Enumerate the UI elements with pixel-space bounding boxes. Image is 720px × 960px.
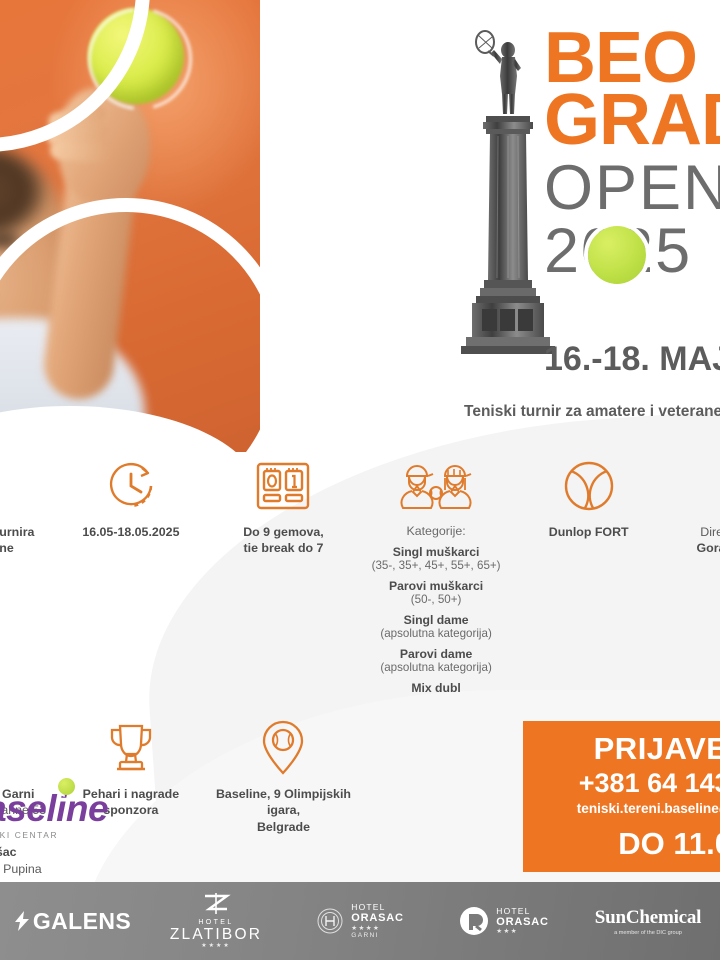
players-icon	[364, 455, 509, 517]
info-line: tie break do 7	[211, 540, 356, 556]
info-line: TK Baseline	[0, 540, 51, 556]
tournament-draw-icon	[669, 455, 720, 517]
brand-wordmark: BEO GRAD OPEN 2025	[544, 28, 720, 283]
brand-line-grad: GRAD	[544, 90, 720, 152]
player-finger	[49, 140, 108, 163]
info-line: Goran Ivanović	[669, 540, 720, 556]
tennis-ball-zero-icon	[588, 226, 646, 284]
info-cell-categories: Kategorije: Singl muškarci (35-, 35+, 45…	[360, 455, 513, 695]
sponsor-sunchemical[interactable]: SunChemical a member of the DIC group	[576, 907, 720, 936]
info-line: Dunlop FORT	[516, 524, 661, 540]
orasac-kicker: HOTEL	[351, 903, 403, 912]
tennis-ball-icon	[516, 455, 661, 517]
info-line: Organizator turnira	[0, 524, 51, 540]
category-name: Mix dubl	[364, 681, 509, 695]
galens-mark-icon	[13, 910, 31, 932]
orasac-circle-icon	[459, 906, 489, 936]
info-cell-organizer: Organizator turnira TK Baseline	[0, 455, 55, 695]
baseline-ball-icon	[58, 778, 75, 795]
registration-banner[interactable]: PRIJAVE NA +381 64 1435 227 teniski.tere…	[523, 721, 720, 872]
info-cell-director: Direktor turnira Goran Ivanović	[665, 455, 720, 695]
sponsor-orasac[interactable]: HOTEL ORASAC ★★★	[432, 906, 576, 936]
orasac-crest-icon	[316, 907, 344, 935]
info-cell-ball: Dunlop FORT	[512, 455, 665, 695]
zlatibor-name: ZLATIBOR	[170, 927, 262, 943]
zlatibor-logo: HOTEL ZLATIBOR ★★★★	[170, 893, 262, 950]
baseline-wordmark: baseline	[0, 790, 144, 827]
brand-year-text: 2025	[544, 220, 720, 283]
categories-heading: Kategorije:	[364, 524, 509, 538]
clock-icon	[59, 455, 204, 517]
baseline-club-logo: baseline TENISKI CENTAR	[0, 790, 144, 840]
sunchemical-wordmark: SunChemical	[595, 907, 702, 929]
category-name: Parovi muškarci	[364, 579, 509, 593]
sponsor-orasac-garni[interactable]: HOTEL ORASAC ★★★★ GARNI	[288, 903, 432, 939]
tennis-ball-seam	[90, 10, 182, 102]
cta-deadline: DO 11.05.	[523, 826, 720, 862]
sunchemical-logo: SunChemical a member of the DIC group	[595, 907, 702, 936]
info-line: Direktor turnira	[669, 524, 720, 540]
cta-email[interactable]: teniski.tereni.baseline@gmail.com	[523, 799, 720, 819]
galens-logo: GALENS	[13, 908, 131, 935]
statue-figure	[491, 42, 521, 114]
category-name: Singl dame	[364, 613, 509, 627]
info-line: Baseline, 9 Olimpijskih igara,	[211, 786, 356, 819]
info-cell-venue: Baseline, 9 Olimpijskih igara, Belgrade	[207, 717, 360, 910]
zlatibor-stars: ★★★★	[170, 943, 262, 949]
category-name: Singl muškarci	[364, 545, 509, 559]
info-line: 16.05-18.05.2025	[59, 524, 204, 540]
orasac-garni-text: HOTEL ORASAC ★★★★ GARNI	[351, 903, 403, 939]
orasac-stars: ★★★★	[351, 925, 403, 932]
sunchemical-tagline: a member of the DIC group	[595, 930, 702, 936]
info-cell-dates: 16.05-18.05.2025	[55, 455, 208, 695]
pobednik-monument-icon	[458, 28, 556, 358]
category-detail: (50-, 50+)	[364, 593, 509, 606]
baseline-tagline: TENISKI CENTAR	[0, 830, 144, 840]
event-dates: 16.-18. MAJ	[544, 340, 720, 379]
category-name: Parovi dame	[364, 647, 509, 661]
info-line: Hotel Orašac	[0, 844, 51, 860]
category-detail: (apsolutna kategorija)	[364, 627, 509, 640]
cta-phone[interactable]: +381 64 1435 227	[523, 767, 720, 799]
galens-wordmark: GALENS	[33, 908, 131, 935]
info-line: Belgrade	[211, 819, 356, 835]
event-subtitle: Teniski turnir za amatere i veterane	[464, 403, 720, 421]
cta-title: PRIJAVE NA	[523, 731, 720, 767]
event-logo: BEO GRAD OPEN 2025 16.-18. MAJ Teniski t…	[440, 18, 720, 418]
scoreboard-icon	[211, 455, 356, 517]
zlatibor-mark-icon	[201, 893, 231, 915]
location-pin-icon	[211, 717, 356, 779]
info-cell-spacer	[360, 717, 513, 910]
brand-open-text: OPEN	[544, 158, 720, 220]
orasac-sub: GARNI	[351, 932, 403, 939]
orasac-garni-logo: HOTEL ORASAC ★★★★ GARNI	[316, 903, 403, 939]
orasac-name: ORASAC	[351, 912, 403, 924]
category-detail: (35-, 35+, 45+, 55+, 65+)	[364, 559, 509, 572]
info-cell-scoring: Do 9 gemova, tie break do 7	[207, 455, 360, 695]
sponsor-zlatibor[interactable]: HOTEL ZLATIBOR ★★★★	[144, 893, 288, 950]
orasac-kicker: HOTEL	[496, 907, 548, 916]
info-line: Do 9 gemova,	[211, 524, 356, 540]
laurel-wreath-icon	[0, 455, 51, 517]
hotel-bed-icon	[0, 717, 51, 779]
tournament-poster: BEO GRAD OPEN 2025 16.-18. MAJ Teniski t…	[0, 0, 720, 960]
orasac-name: ORASAC	[496, 916, 548, 928]
orasac-logo: HOTEL ORASAC ★★★	[459, 906, 548, 936]
sponsor-bar: GALENS HOTEL ZLATIBOR ★★★★	[0, 882, 720, 960]
orasac-text: HOTEL ORASAC ★★★	[496, 907, 548, 936]
sponsor-galens[interactable]: GALENS	[0, 908, 144, 935]
hero-player-photo	[0, 0, 260, 452]
trophy-icon	[59, 717, 204, 779]
orasac-stars: ★★★	[496, 928, 548, 935]
category-detail: (apsolutna kategorija)	[364, 661, 509, 674]
racket-icon	[476, 31, 494, 56]
